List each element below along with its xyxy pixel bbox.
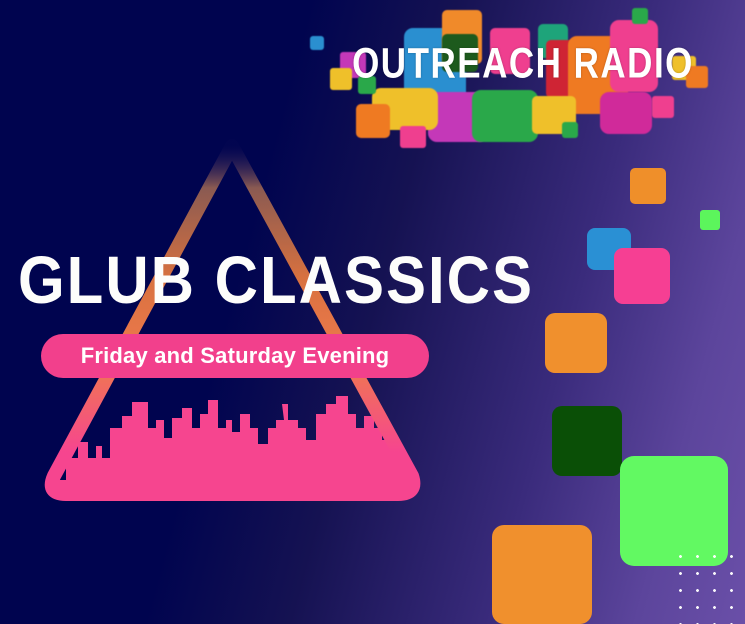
tile-pink-xs [400, 126, 426, 148]
logo-wordmark: OUTREACH RADIO [348, 40, 698, 89]
decor-darkgreen [552, 406, 622, 476]
decor-orange-bottom [492, 525, 592, 624]
triangle-skyline-group [36, 128, 436, 508]
schedule-badge: Friday and Saturday Evening [41, 334, 429, 378]
schedule-badge-label: Friday and Saturday Evening [81, 343, 390, 369]
decor-orange-top [630, 168, 666, 204]
tile-green-tr [632, 8, 648, 24]
outreach-radio-logo: OUTREACH RADIO [300, 0, 745, 150]
tile-orange-xs [356, 104, 390, 138]
decor-green-small [700, 210, 720, 230]
decor-pink [614, 248, 670, 304]
tile-green-lg [472, 90, 538, 142]
triangle-skyline-svg [36, 128, 436, 508]
tile-blue-sm [310, 36, 324, 50]
tile-magenta-r [600, 92, 652, 134]
dot-grid-pattern [667, 544, 745, 624]
decor-orange-mid [545, 313, 607, 373]
tile-green-br [562, 122, 578, 138]
page-title: GLUB CLASSICS [18, 247, 518, 314]
poster-canvas: OUTREACH RADIO GLUB CLASSICS Friday and … [0, 0, 745, 624]
tile-pink-tr [652, 96, 674, 118]
